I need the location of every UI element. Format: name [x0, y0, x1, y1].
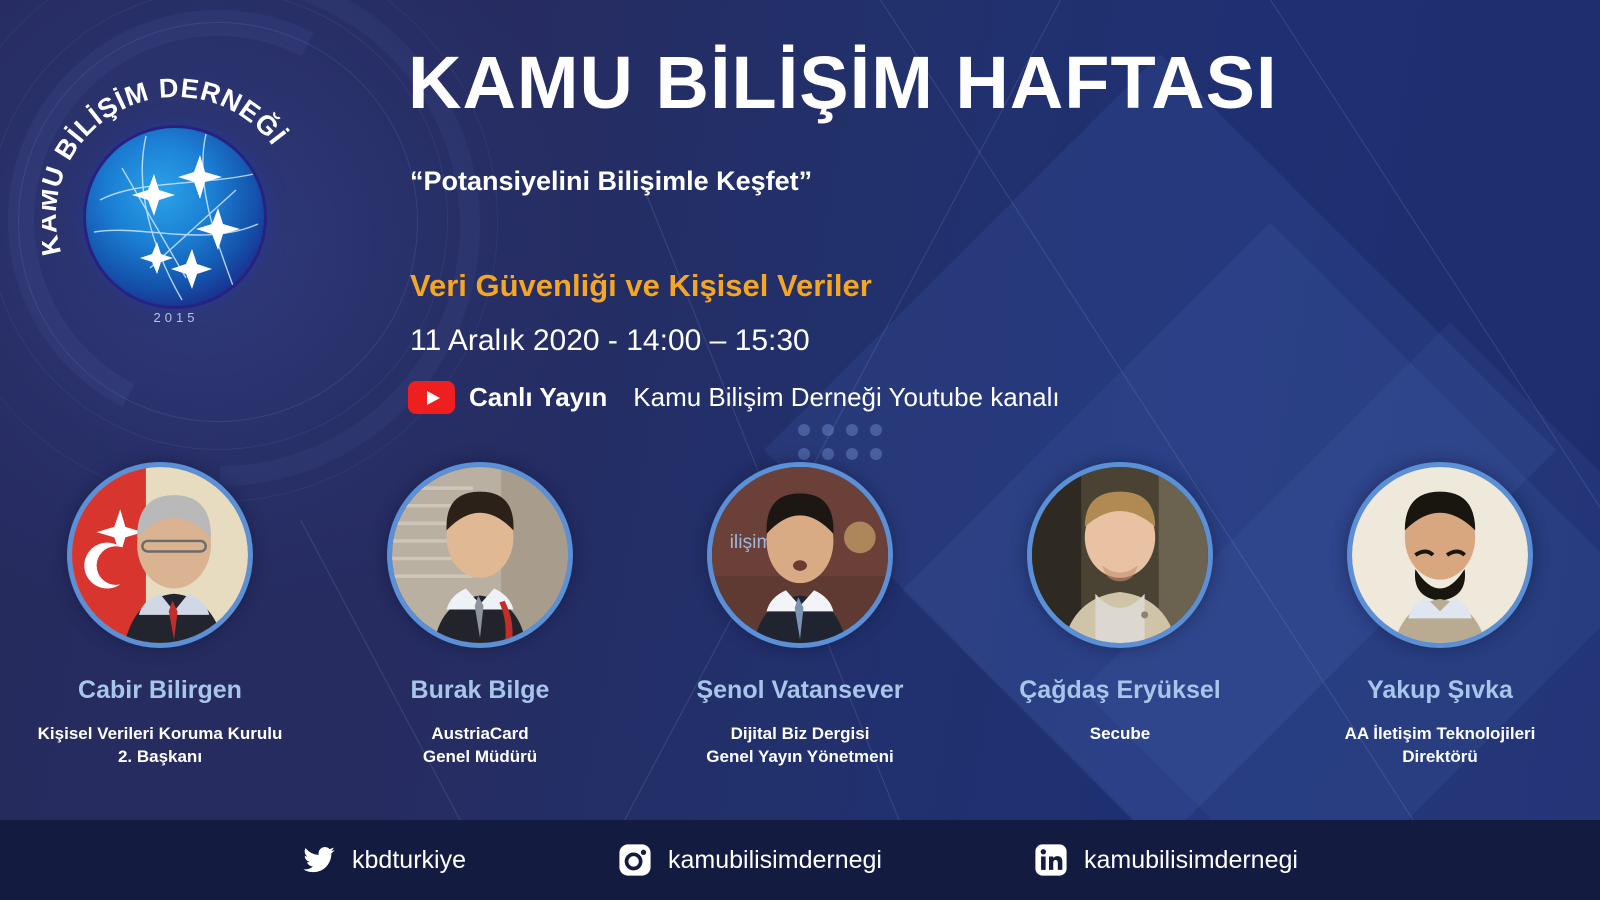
- speaker-photo-frame: [387, 462, 573, 648]
- logo-year: 2015: [42, 310, 310, 325]
- speaker-card: Çağdaş Eryüksel Secube: [960, 462, 1280, 769]
- linkedin-icon: [1034, 843, 1068, 877]
- session-datetime: 11 Aralık 2020 - 14:00 – 15:30: [410, 324, 810, 358]
- speaker-role-line-2: 2. Başkanı: [0, 746, 320, 769]
- speaker-card: Yakup Şıvka AA İletişim Teknolojileri Di…: [1280, 462, 1600, 769]
- speaker-name: Şenol Vatansever: [640, 676, 960, 705]
- speaker-photo-cagdas-eryuksel: [1032, 467, 1208, 643]
- speaker-photo-yakup-sivka: [1352, 467, 1528, 643]
- page-title: KAMU BİLİŞİM HAFTASI: [408, 46, 1278, 120]
- social-link-linkedin[interactable]: kamubilisimdernegi: [1034, 843, 1298, 877]
- speaker-name: Yakup Şıvka: [1280, 676, 1600, 705]
- svg-text:ilişim: ilişim: [730, 531, 773, 553]
- speaker-photo-frame: ilişim: [707, 462, 893, 648]
- speaker-name: Cabir Bilirgen: [0, 676, 320, 705]
- speaker-photo-senol-vatansever: ilişim: [712, 467, 888, 643]
- association-logo: KAMU BİLİŞİM DERNEĞİ: [42, 78, 310, 346]
- speaker-name: Burak Bilge: [320, 676, 640, 705]
- session-topic: Veri Güvenliği ve Kişisel Veriler: [410, 268, 872, 304]
- speaker-role: Kişisel Verileri Koruma Kurulu 2. Başkan…: [0, 723, 320, 769]
- speaker-role-line-2: Direktörü: [1280, 746, 1600, 769]
- speaker-role-line-2: Genel Müdürü: [320, 746, 640, 769]
- speaker-role-line-1: Dijital Biz Dergisi: [640, 723, 960, 746]
- twitter-icon: [302, 843, 336, 877]
- speaker-role: AustriaCard Genel Müdürü: [320, 723, 640, 769]
- instagram-icon: [618, 843, 652, 877]
- live-stream-row: Canlı Yayın Kamu Bilişim Derneği Youtube…: [408, 381, 1060, 414]
- live-channel-name: Kamu Bilişim Derneği Youtube kanalı: [633, 382, 1059, 413]
- globe-network-icon: [86, 128, 264, 306]
- speaker-card: Burak Bilge AustriaCard Genel Müdürü: [320, 462, 640, 769]
- page-subtitle: “Potansiyelini Bilişimle Keşfet”: [410, 166, 812, 197]
- social-handle: kamubilisimdernegi: [668, 846, 882, 875]
- speaker-role-line-2: Genel Yayın Yönetmeni: [640, 746, 960, 769]
- speakers-list: Cabir Bilirgen Kişisel Verileri Koruma K…: [0, 462, 1600, 769]
- social-handle: kbdturkiye: [352, 846, 466, 875]
- event-poster: KAMU BİLİŞİM DERNEĞİ: [0, 0, 1600, 900]
- speaker-role: AA İletişim Teknolojileri Direktörü: [1280, 723, 1600, 769]
- social-link-instagram[interactable]: kamubilisimdernegi: [618, 843, 882, 877]
- social-footer: kbdturkiye kamubilisimdernegi: [0, 820, 1600, 900]
- youtube-icon[interactable]: [408, 381, 455, 414]
- speaker-photo-frame: [67, 462, 253, 648]
- speaker-photo-cabir-bilirgen: [72, 467, 248, 643]
- speaker-photo-frame: [1347, 462, 1533, 648]
- speaker-photo-frame: [1027, 462, 1213, 648]
- speaker-role-line-1: AustriaCard: [320, 723, 640, 746]
- social-link-twitter[interactable]: kbdturkiye: [302, 843, 466, 877]
- speaker-role: Dijital Biz Dergisi Genel Yayın Yönetmen…: [640, 723, 960, 769]
- social-handle: kamubilisimdernegi: [1084, 846, 1298, 875]
- speaker-card: ilişim Şenol Vatansever Dijital Biz Derg…: [640, 462, 960, 769]
- speaker-name: Çağdaş Eryüksel: [960, 676, 1280, 705]
- speaker-role-line-1: AA İletişim Teknolojileri: [1280, 723, 1600, 746]
- speaker-card: Cabir Bilirgen Kişisel Verileri Koruma K…: [0, 462, 320, 769]
- speaker-role: Secube: [960, 723, 1280, 746]
- speaker-photo-burak-bilge: [392, 467, 568, 643]
- live-label: Canlı Yayın: [469, 382, 607, 413]
- speaker-role-line-1: Secube: [960, 723, 1280, 746]
- speaker-role-line-1: Kişisel Verileri Koruma Kurulu: [0, 723, 320, 746]
